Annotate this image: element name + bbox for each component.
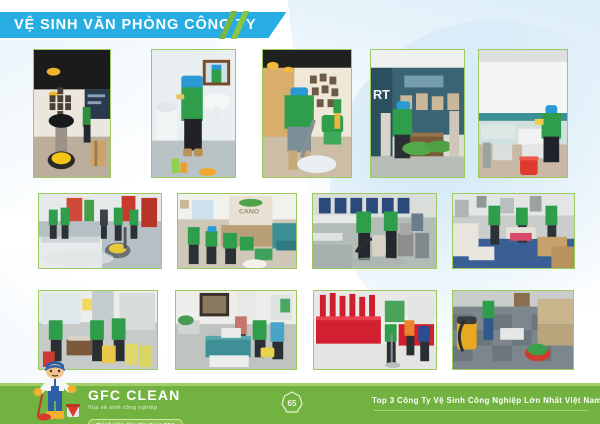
gallery-photo[interactable]	[452, 193, 575, 269]
gallery-photo[interactable]	[38, 193, 162, 269]
gallery-photo[interactable]: RT	[370, 49, 465, 178]
gallery-photo[interactable]	[452, 290, 574, 370]
gallery-photo[interactable]	[33, 49, 111, 178]
svg-text:CANO: CANO	[239, 208, 260, 215]
gallery-photo[interactable]	[175, 290, 297, 370]
anniversary-badge-number: 65	[288, 399, 297, 408]
gallery-photo[interactable]	[478, 49, 568, 178]
footer-tagline: Top 3 Công Ty Vệ Sinh Công Nghiệp Lớn Nh…	[372, 396, 600, 405]
brand-tagline: Vua vệ sinh công nghiệp	[88, 404, 183, 413]
gallery-photo[interactable]	[151, 49, 236, 178]
brand-name: GFC CLEAN	[88, 388, 183, 403]
cleaner-mascot-icon	[22, 358, 88, 424]
footer-bar: GFC CLEAN Vua vệ sinh công nghiệp Thành …	[0, 383, 600, 424]
slide-root: VỆ SINH VĂN PHÒNG CÔNG TY	[0, 0, 600, 424]
anniversary-badge: 65	[280, 391, 304, 415]
gallery-photo[interactable]	[262, 49, 352, 178]
gallery-photo[interactable]: CANO	[177, 193, 297, 269]
gallery-photo[interactable]	[312, 193, 437, 269]
gallery-photo[interactable]	[313, 290, 437, 370]
svg-text:RT: RT	[373, 87, 390, 102]
brand-block: GFC CLEAN Vua vệ sinh công nghiệp Thành …	[88, 388, 183, 424]
brand-badge: Thành Viên Của Tập Đoàn GFC	[88, 419, 183, 424]
footer-tagline-underline	[374, 410, 588, 411]
